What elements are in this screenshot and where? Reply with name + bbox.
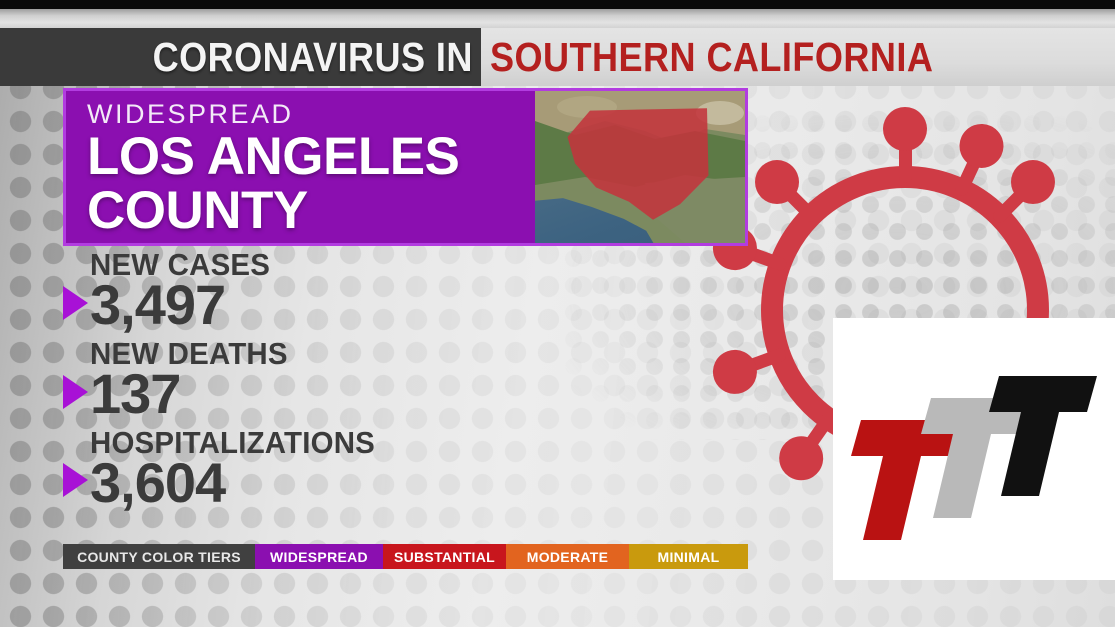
stat-value: 3,604: [90, 456, 583, 510]
legend-segment: MODERATE: [506, 544, 629, 569]
legend-segment-label: SUBSTANTIAL: [394, 549, 495, 565]
station-logo-triple-t: [847, 360, 1101, 550]
stat-label: HOSPITALIZATIONS: [90, 427, 558, 458]
header-sheen-strip: [0, 9, 1115, 28]
county-tier-label: WIDESPREAD: [87, 100, 535, 128]
county-name-line1: LOS ANGELES: [87, 132, 535, 181]
county-name-line2: COUNTY: [87, 186, 535, 235]
title-banner: CORONAVIRUS IN SOUTHERN CALIFORNIA: [0, 28, 1115, 86]
letterbox-bar-top: [0, 0, 1115, 9]
page-title-secondary: SOUTHERN CALIFORNIA: [490, 34, 933, 81]
title-segment-dark: CORONAVIRUS IN: [0, 28, 481, 86]
stat-row: NEW DEATHS 137: [63, 338, 583, 421]
station-logo-watermark: [833, 318, 1115, 580]
triangle-right-icon: [63, 286, 88, 320]
stat-value: 3,497: [90, 278, 583, 332]
stat-row: NEW CASES 3,497: [63, 249, 583, 332]
stat-row: HOSPITALIZATIONS 3,604: [63, 427, 583, 510]
legend-segment: WIDESPREAD: [255, 544, 383, 569]
triangle-right-icon: [63, 463, 88, 497]
legend-segment-label: COUNTY COLOR TIERS: [77, 549, 241, 565]
legend-segment: COUNTY COLOR TIERS: [63, 544, 255, 569]
stat-label: NEW DEATHS: [90, 338, 558, 369]
stat-label: NEW CASES: [90, 249, 558, 280]
legend-segment-label: WIDESPREAD: [270, 549, 368, 565]
legend-segment-label: MODERATE: [527, 549, 608, 565]
legend-segment-label: MINIMAL: [658, 549, 720, 565]
stat-value: 137: [90, 367, 583, 421]
page-title-primary: CORONAVIRUS IN: [153, 34, 473, 81]
county-banner-text: WIDESPREAD LOS ANGELES COUNTY: [66, 91, 535, 243]
county-map-thumbnail: [535, 91, 745, 243]
county-color-tier-legend: COUNTY COLOR TIERSWIDESPREADSUBSTANTIALM…: [63, 544, 748, 569]
title-segment-light: SOUTHERN CALIFORNIA: [481, 28, 1115, 86]
triangle-right-icon: [63, 375, 88, 409]
legend-segment: SUBSTANTIAL: [383, 544, 506, 569]
broadcast-graphic-screen: CORONAVIRUS IN SOUTHERN CALIFORNIA WIDES…: [0, 0, 1115, 627]
county-banner: WIDESPREAD LOS ANGELES COUNTY: [63, 88, 748, 246]
legend-segment: MINIMAL: [629, 544, 748, 569]
statistics-list: NEW CASES 3,497 NEW DEATHS 137 HOSPITALI…: [63, 249, 583, 515]
